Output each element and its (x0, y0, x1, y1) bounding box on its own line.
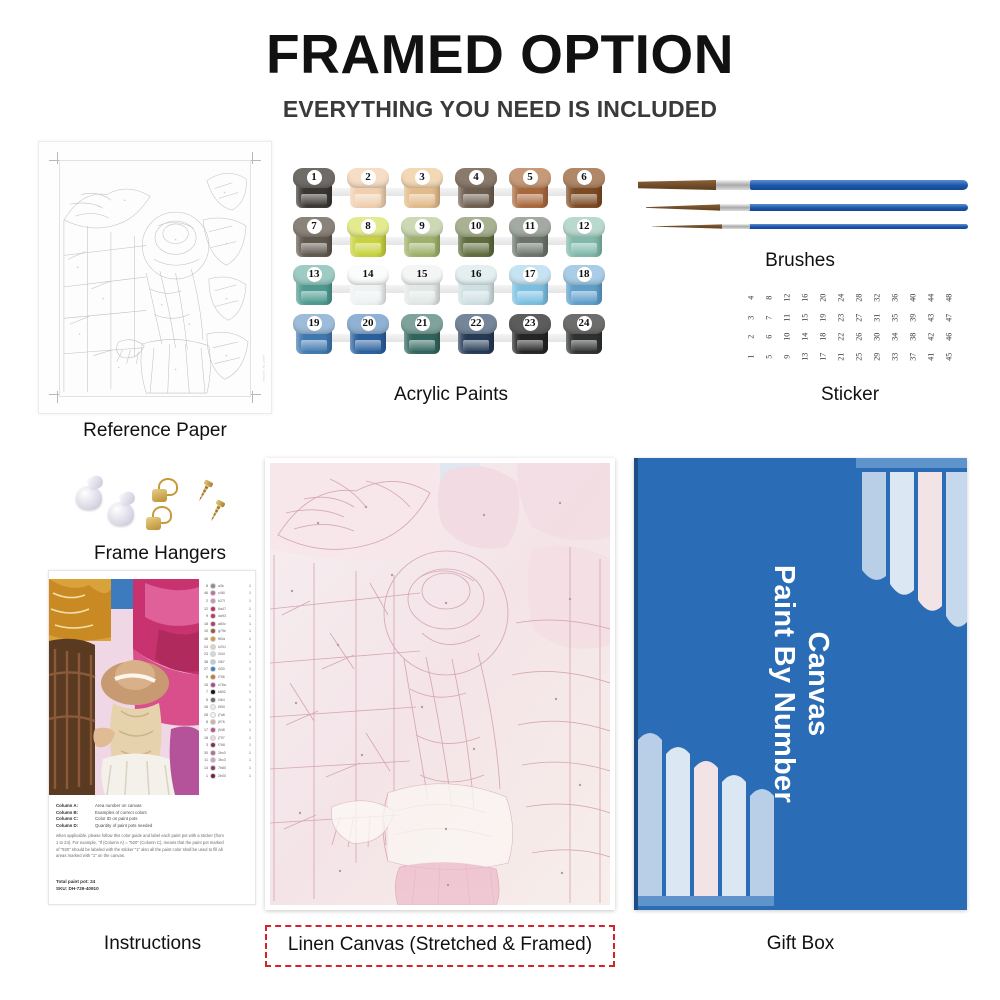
legend-color-swatch (210, 628, 216, 634)
instructions-note: when applicable, please follow this colo… (56, 833, 226, 860)
total-paint-pot: Total paint pot: 24 (56, 879, 226, 886)
caption-gift-box: Gift Box (634, 933, 967, 955)
sticker-number: 27 (849, 308, 869, 326)
sticker-number: 21 (831, 347, 851, 365)
paint-pot-number: 17 (509, 266, 551, 283)
legend-area-number: 3 (201, 743, 208, 747)
paint-pot-3: 3 (401, 168, 443, 210)
legend-color-id: i756 (218, 675, 247, 679)
instructions-color-legend: 8a3k146c48l12b27l1126a47194a93118a80c110… (199, 579, 256, 795)
paint-pot-number: 7 (293, 218, 335, 235)
legend-quantity: 1 (249, 728, 255, 732)
legend-color-id: 2bc0 (218, 751, 247, 755)
legend-row: 16t9501 (201, 704, 255, 712)
sticker-number: 44 (921, 289, 941, 307)
legend-area-number: 11 (201, 758, 208, 762)
sticker-number: 16 (795, 289, 815, 307)
legend-row: 23i3441 (201, 650, 255, 658)
legend-quantity: 1 (249, 683, 255, 687)
paint-pot-6: 6 (563, 168, 605, 210)
brushes-group (638, 180, 968, 246)
instruction-column-row: Column B:Examples of correct colors (56, 810, 206, 815)
brush-tip (638, 180, 716, 190)
legend-row: 8j9761 (201, 719, 255, 727)
legend-quantity: 1 (249, 599, 255, 603)
brush-tip (652, 224, 722, 229)
paint-pot-number: 4 (455, 169, 497, 186)
sticker-number: 18 (813, 328, 833, 346)
sticker-number: 10 (777, 328, 797, 346)
paint-pot-13: 13 (293, 265, 335, 307)
paint-pot-5: 5 (509, 168, 551, 210)
linen-canvas-framed (265, 458, 615, 910)
legend-area-number: 14 (201, 766, 208, 770)
gift-box-title: Canvas Paint By Number (766, 565, 834, 803)
brush-ferrule (720, 224, 750, 229)
instructions-column-key: Column A:Area number on canvasColumn B:E… (56, 803, 206, 829)
d-ring-plate (146, 517, 161, 530)
sticker-number: 46 (939, 328, 959, 346)
paint-pot-number: 8 (347, 218, 389, 235)
legend-row: 15c78a1 (201, 681, 255, 689)
legend-color-id: f766 (218, 743, 247, 747)
caption-brushes: Brushes (700, 250, 900, 272)
legend-row: 10g79e1 (201, 628, 255, 636)
sticker-number: 35 (885, 308, 905, 326)
sticker-number: 40 (903, 289, 923, 307)
legend-area-number: 9 (201, 614, 208, 618)
gift-box-title-line1: Canvas (801, 565, 835, 803)
legend-area-number: 10 (201, 629, 208, 633)
sticker-number: 7 (759, 308, 779, 326)
instructions-sheet: 8a3k146c48l12b27l1126a47194a93118a80c110… (48, 570, 256, 905)
legend-row: 113bc31 (201, 757, 255, 765)
instruction-column-key: Column A: (56, 803, 90, 808)
legend-quantity: 1 (249, 675, 255, 679)
instruction-column-value: Color ID on paint pots (95, 816, 137, 821)
instruction-column-value: Quantity of paint pots needed (95, 823, 152, 828)
legend-area-number: 46 (201, 591, 208, 595)
sticker-number: 42 (921, 328, 941, 346)
paint-pot-1: 1 (293, 168, 335, 210)
legend-quantity: 1 (249, 660, 255, 664)
legend-row: 3f7661 (201, 741, 255, 749)
legend-area-number: 23 (201, 652, 208, 656)
legend-color-id: c48l (218, 591, 247, 595)
reference-line-art (59, 160, 251, 397)
sticker-number: 25 (849, 347, 869, 365)
legend-color-id: k892 (218, 690, 247, 694)
d-ring-hanger (146, 506, 172, 530)
sticker-number-sheet: 4812162024283236404448371115192327313539… (742, 288, 958, 366)
legend-color-id: i330 (218, 667, 247, 671)
sticker-number: 47 (939, 308, 959, 326)
legend-color-swatch (210, 697, 216, 703)
frame-hangers-group (70, 470, 250, 540)
paint-pot-number: 2 (347, 169, 389, 186)
paint-pot-24: 24 (563, 314, 605, 356)
legend-row: 8i7561 (201, 673, 255, 681)
paint-pot-8: 8 (347, 217, 389, 259)
legend-color-swatch (210, 644, 216, 650)
paint-pot-number: 12 (563, 218, 605, 235)
legend-area-number: 38 (201, 660, 208, 664)
page-title: FRAMED OPTION (0, 26, 1000, 84)
instruction-column-key: Column C: (56, 816, 90, 821)
legend-quantity: 1 (249, 690, 255, 694)
brush-ferrule (718, 204, 750, 211)
legend-quantity: 1 (249, 698, 255, 702)
legend-quantity: 1 (249, 705, 255, 709)
legend-color-id: i344 (218, 652, 247, 656)
legend-color-id: 3bc3 (218, 758, 247, 762)
legend-quantity: 1 (249, 591, 255, 595)
instructions-footer: Total paint pot: 24 SKU: DH-729-40910 (56, 879, 226, 893)
legend-color-swatch (210, 583, 216, 589)
legend-area-number: 1 (201, 774, 208, 778)
legend-color-id: i367 (218, 660, 247, 664)
legend-area-number: 30 (201, 751, 208, 755)
sticker-number: 28 (849, 289, 869, 307)
gift-box: Canvas Paint By Number (634, 458, 967, 910)
paint-pot-number: 22 (455, 315, 497, 332)
instruction-column-key: Column D: (56, 823, 90, 828)
paint-pot-number: 6 (563, 169, 605, 186)
gift-box-title-line2: Paint By Number (766, 565, 800, 803)
legend-color-swatch (210, 727, 216, 733)
legend-color-id: f60a (218, 637, 247, 641)
legend-row: 18a80c1 (201, 620, 255, 628)
sticker-number: 5 (759, 347, 779, 365)
sticker-number: 48 (939, 289, 959, 307)
legend-row: 38i3671 (201, 658, 255, 666)
legend-quantity: 1 (249, 766, 255, 770)
legend-quantity: 1 (249, 751, 255, 755)
reference-paper-edge-text: paint by number (262, 355, 266, 383)
legend-color-swatch (210, 689, 216, 695)
legend-area-number: 5 (201, 698, 208, 702)
legend-color-id: 6a47 (218, 607, 247, 611)
paint-pot-number: 23 (509, 315, 551, 332)
legend-area-number: 7 (201, 690, 208, 694)
sticker-number: 20 (813, 289, 833, 307)
legend-color-id: t950 (218, 705, 247, 709)
legend-row: 17j9481 (201, 726, 255, 734)
sticker-number: 14 (795, 328, 815, 346)
legend-quantity: 1 (249, 584, 255, 588)
legend-color-swatch (210, 742, 216, 748)
legend-area-number: 24 (201, 645, 208, 649)
legend-area-number: 12 (201, 607, 208, 611)
sku-code: SKU: DH-729-40910 (56, 886, 226, 893)
legend-area-number: 18 (201, 622, 208, 626)
sticker-number: 3 (741, 308, 761, 326)
legend-row: 27i3301 (201, 666, 255, 674)
page-subtitle: EVERYTHING YOU NEED IS INCLUDED (0, 96, 1000, 123)
legend-color-id: a80c (218, 622, 247, 626)
brush-large (638, 180, 968, 190)
sticker-number: 30 (867, 328, 887, 346)
legend-color-id: c78a (218, 683, 247, 687)
legend-quantity: 1 (249, 629, 255, 633)
brush-handle (748, 224, 968, 229)
header: FRAMED OPTION EVERYTHING YOU NEED IS INC… (0, 26, 1000, 123)
paint-pot-10: 10 (455, 217, 497, 259)
paint-pot-15: 15 (401, 265, 443, 307)
legend-area-number: 15 (201, 683, 208, 687)
legend-color-swatch (210, 719, 216, 725)
sticker-number: 2 (741, 328, 761, 346)
legend-color-swatch (210, 682, 216, 688)
reference-paper-sheet: paint by number (38, 141, 272, 414)
legend-color-swatch (210, 704, 216, 710)
legend-row: 28j7a81 (201, 711, 255, 719)
paint-pot-12: 12 (563, 217, 605, 259)
legend-row: 147b801 (201, 764, 255, 772)
legend-quantity: 1 (249, 743, 255, 747)
paint-pot-number: 3 (401, 169, 443, 186)
paint-pot-number: 24 (563, 315, 605, 332)
paint-pot-number: 20 (347, 315, 389, 332)
legend-color-id: 4a93 (218, 614, 247, 618)
instruction-column-value: Examples of correct colors (95, 810, 147, 815)
legend-color-swatch (210, 651, 216, 657)
paint-pot-7: 7 (293, 217, 335, 259)
legend-quantity: 1 (249, 614, 255, 618)
legend-row: 126a471 (201, 605, 255, 613)
acrylic-paints-group: 123456789101112131415161718192021222324 (293, 168, 609, 363)
sticker-number: 19 (813, 308, 833, 326)
legend-color-id: j7a8 (218, 713, 247, 717)
legend-color-id: j948 (218, 728, 247, 732)
legend-row: 5i4641 (201, 696, 255, 704)
caption-acrylic-paints: Acrylic Paints (293, 384, 609, 406)
caption-instructions: Instructions (40, 933, 265, 955)
sticker-number: 43 (921, 308, 941, 326)
sticker-number: 33 (885, 347, 905, 365)
paint-pot-23: 23 (509, 314, 551, 356)
paint-pot-number: 21 (401, 315, 443, 332)
plastic-hanger (108, 502, 134, 526)
sticker-number: 4 (741, 289, 761, 307)
legend-color-swatch (210, 765, 216, 771)
sticker-number: 23 (831, 308, 851, 326)
legend-color-swatch (210, 606, 216, 612)
legend-quantity: 1 (249, 607, 255, 611)
legend-area-number: 8 (201, 720, 208, 724)
legend-quantity: 1 (249, 713, 255, 717)
plastic-hanger (76, 486, 102, 510)
legend-color-swatch (210, 674, 216, 680)
sticker-number: 12 (777, 289, 797, 307)
legend-color-swatch (210, 636, 216, 642)
legend-area-number: 28 (201, 713, 208, 717)
legend-color-id: g79e (218, 629, 247, 633)
legend-quantity: 1 (249, 645, 255, 649)
sticker-number: 41 (921, 347, 941, 365)
legend-area-number: 18 (201, 736, 208, 740)
paint-pot-number: 5 (509, 169, 551, 186)
paint-pot-number: 16 (455, 266, 497, 283)
sticker-number: 45 (939, 347, 959, 365)
paint-pot-number: 11 (509, 218, 551, 235)
paint-pot-number: 18 (563, 266, 605, 283)
sticker-number: 39 (903, 308, 923, 326)
paint-pot-18: 18 (563, 265, 605, 307)
paint-pot-number: 13 (293, 266, 335, 283)
brush-fine (652, 224, 968, 229)
sticker-number: 34 (885, 328, 905, 346)
legend-area-number: 48 (201, 637, 208, 641)
legend-row: 94a931 (201, 612, 255, 620)
legend-row: 12b001 (201, 772, 255, 780)
legend-color-id: 7b80 (218, 766, 247, 770)
legend-color-id: j797 (218, 736, 247, 740)
legend-row: 7k8921 (201, 688, 255, 696)
legend-row: 24h2011 (201, 643, 255, 651)
legend-quantity: 1 (249, 774, 255, 778)
legend-color-swatch (210, 712, 216, 718)
legend-color-swatch (210, 735, 216, 741)
d-ring-hanger (152, 478, 178, 502)
sticker-number: 24 (831, 289, 851, 307)
legend-color-id: j976 (218, 720, 247, 724)
brush-handle (750, 180, 968, 190)
screw (195, 479, 213, 503)
instruction-column-row: Column D:Quantity of paint pots needed (56, 823, 206, 828)
legend-area-number: 16 (201, 705, 208, 709)
legend-color-swatch (210, 598, 216, 604)
legend-color-id: a3k (218, 584, 247, 588)
screw (207, 499, 225, 523)
paint-pot-17: 17 (509, 265, 551, 307)
brush-handle (748, 204, 968, 211)
legend-area-number: 17 (201, 728, 208, 732)
instructions-artwork (49, 579, 199, 795)
paint-pot-4: 4 (455, 168, 497, 210)
paint-pot-9: 9 (401, 217, 443, 259)
legend-row: 302bc01 (201, 749, 255, 757)
sticker-number: 17 (813, 347, 833, 365)
sticker-number: 26 (849, 328, 869, 346)
sticker-number: 1 (741, 347, 761, 365)
sticker-number: 29 (867, 347, 887, 365)
legend-color-swatch (210, 750, 216, 756)
paint-pot-21: 21 (401, 314, 443, 356)
sticker-number: 15 (795, 308, 815, 326)
paint-pot-2: 2 (347, 168, 389, 210)
legend-quantity: 1 (249, 637, 255, 641)
sticker-number: 37 (903, 347, 923, 365)
product-infographic: FRAMED OPTION EVERYTHING YOU NEED IS INC… (0, 0, 1000, 1000)
legend-color-swatch (210, 590, 216, 596)
sticker-number: 9 (777, 347, 797, 365)
legend-quantity: 1 (249, 758, 255, 762)
legend-quantity: 1 (249, 720, 255, 724)
paint-pot-number: 9 (401, 218, 443, 235)
brush-tip (646, 204, 720, 211)
brush-ferrule (714, 180, 750, 190)
sticker-number: 13 (795, 347, 815, 365)
sticker-number: 36 (885, 289, 905, 307)
legend-quantity: 1 (249, 622, 255, 626)
paint-pot-19: 19 (293, 314, 335, 356)
paint-pot-number: 1 (293, 169, 335, 186)
legend-quantity: 1 (249, 667, 255, 671)
legend-color-swatch (210, 659, 216, 665)
paint-pot-number: 10 (455, 218, 497, 235)
legend-color-swatch (210, 773, 216, 779)
caption-reference-paper: Reference Paper (38, 420, 272, 442)
screw-shaft (198, 484, 210, 502)
instruction-column-row: Column A:Area number on canvas (56, 803, 206, 808)
legend-color-id: b27l (218, 599, 247, 603)
legend-color-swatch (210, 666, 216, 672)
paint-pot-22: 22 (455, 314, 497, 356)
paint-pot-number: 15 (401, 266, 443, 283)
screw-shaft (210, 504, 222, 522)
paint-pot-11: 11 (509, 217, 551, 259)
legend-area-number: 8 (201, 675, 208, 679)
caption-linen-canvas: Linen Canvas (Stretched & Framed) (265, 925, 615, 967)
paint-pot-14: 14 (347, 265, 389, 307)
legend-color-id: h201 (218, 645, 247, 649)
sticker-number: 31 (867, 308, 887, 326)
sticker-number: 22 (831, 328, 851, 346)
legend-color-id: 2b00 (218, 774, 247, 778)
sticker-number: 38 (903, 328, 923, 346)
caption-frame-hangers: Frame Hangers (40, 543, 280, 565)
legend-color-swatch (210, 757, 216, 763)
sticker-number: 8 (759, 289, 779, 307)
d-ring-plate (152, 489, 167, 502)
legend-quantity: 1 (249, 736, 255, 740)
legend-row: 46c48l1 (201, 590, 255, 598)
legend-quantity: 1 (249, 652, 255, 656)
legend-area-number: 2 (201, 599, 208, 603)
canvas-printed-artwork (270, 463, 610, 905)
legend-row: 2b27l1 (201, 597, 255, 605)
sticker-number: 11 (777, 308, 797, 326)
instruction-column-value: Area number on canvas (95, 803, 142, 808)
instruction-column-key: Column B: (56, 810, 90, 815)
sticker-number: 6 (759, 328, 779, 346)
legend-row: 48f60a1 (201, 635, 255, 643)
paint-pot-20: 20 (347, 314, 389, 356)
caption-sticker: Sticker (742, 384, 958, 406)
legend-area-number: 8 (201, 584, 208, 588)
legend-row: 8a3k1 (201, 582, 255, 590)
paint-pot-number: 14 (347, 266, 389, 283)
legend-color-swatch (210, 621, 216, 627)
brush-medium (646, 204, 968, 211)
legend-area-number: 27 (201, 667, 208, 671)
legend-color-id: i464 (218, 698, 247, 702)
instruction-column-row: Column C:Color ID on paint pots (56, 816, 206, 821)
legend-row: 18j7971 (201, 734, 255, 742)
paint-pot-16: 16 (455, 265, 497, 307)
paint-pot-number: 19 (293, 315, 335, 332)
legend-color-swatch (210, 613, 216, 619)
sticker-number: 32 (867, 289, 887, 307)
